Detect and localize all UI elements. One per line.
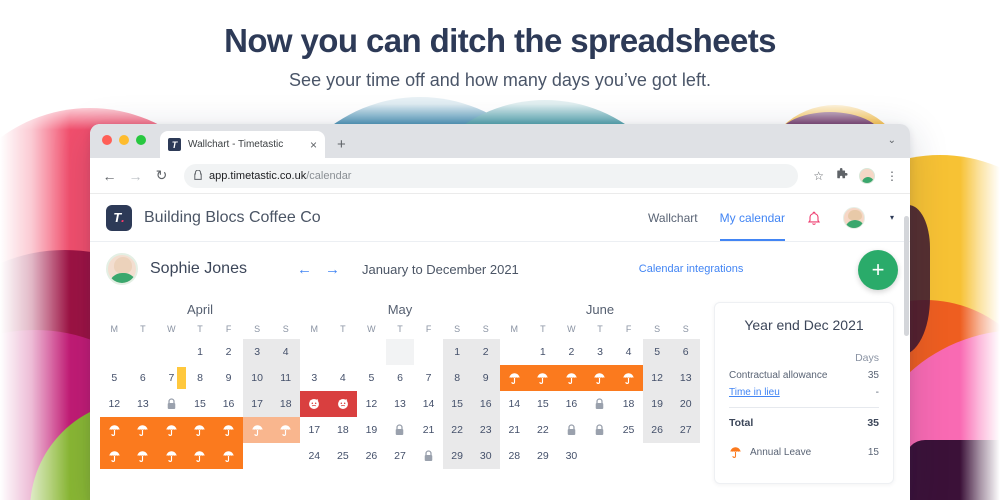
calendar-day-cell[interactable]: 18	[329, 417, 358, 443]
total-label: Total	[729, 417, 753, 429]
calendar-day-cell[interactable]: 23	[471, 417, 500, 443]
calendar-day-cell[interactable]: 5	[100, 365, 129, 391]
half-day-marker	[177, 367, 186, 389]
lock-icon	[194, 170, 202, 182]
prev-period-button[interactable]: ←	[297, 261, 312, 278]
user-avatar[interactable]	[843, 207, 865, 229]
chevron-down-icon[interactable]: ▾	[890, 213, 894, 222]
calendar-day-cell[interactable]: 18	[614, 391, 643, 417]
calendar-day-cell[interactable]: 19	[357, 417, 386, 443]
summary-row-total: Total 35	[729, 414, 879, 432]
calendar-day-cell[interactable]	[186, 443, 215, 469]
month-april: AprilMTWTFSS1234567891011121315161718	[100, 302, 300, 484]
calendar-day-cell[interactable]: 22	[529, 417, 558, 443]
star-icon[interactable]: ☆	[813, 169, 824, 183]
calendar-day-cell[interactable]: 27	[671, 417, 700, 443]
promo-subheadline: See your time off and how many days you’…	[0, 70, 1000, 91]
calendar-empty-cell	[357, 339, 386, 365]
month-may: MayMTWTFSS123456789121314151617181921222…	[300, 302, 500, 484]
browser-window: T Wallchart - Timetastic × + ⌄ ← → ↻ app…	[90, 124, 910, 500]
nav-item-wallchart[interactable]: Wallchart	[648, 194, 698, 241]
calendar-day-cell[interactable]: 26	[643, 417, 672, 443]
url-path: /calendar	[306, 170, 351, 182]
calendar-day-cell[interactable]: 30	[557, 443, 586, 469]
calendar-day-cell[interactable]	[243, 417, 272, 443]
summary-title: Year end Dec 2021	[729, 317, 879, 333]
maximize-window-icon[interactable]	[136, 135, 146, 145]
calendar-day-cell[interactable]: 1	[186, 339, 215, 365]
calendar-day-cell[interactable]	[300, 391, 329, 417]
calendar-day-cell[interactable]: 24	[300, 443, 329, 469]
calendar-day-cell[interactable]: 1	[443, 339, 472, 365]
calendar-day-cell[interactable]	[157, 391, 186, 417]
calendar-day-cell[interactable]: 6	[386, 365, 415, 391]
calendar-day-cell[interactable]: 25	[329, 443, 358, 469]
calendar-area: AprilMTWTFSS1234567891011121315161718May…	[90, 296, 910, 484]
add-booking-button[interactable]: +	[858, 250, 898, 290]
day-of-week-header: F	[414, 324, 443, 339]
day-of-week-header: M	[300, 324, 329, 339]
day-of-week-header: S	[471, 324, 500, 339]
browser-profile-avatar[interactable]	[859, 168, 875, 184]
calendar-day-cell[interactable]: 2	[557, 339, 586, 365]
address-bar[interactable]: app.timetastic.co.uk/calendar	[184, 164, 798, 188]
browser-menu-icon[interactable]: ⋮	[886, 169, 898, 183]
calendar-day-cell[interactable]: 16	[214, 391, 243, 417]
calendar-day-cell[interactable]: 5	[357, 365, 386, 391]
tab-title: Wallchart - Timetastic	[188, 139, 303, 150]
calendar-day-cell[interactable]: 14	[500, 391, 529, 417]
calendar-day-cell[interactable]: 17	[300, 417, 329, 443]
calendar-day-cell[interactable]: 15	[186, 391, 215, 417]
allowance-summary-card: Year end Dec 2021 Days Contractual allow…	[714, 302, 894, 484]
day-of-week-header: W	[557, 324, 586, 339]
promo-headline: Now you can ditch the spreadsheets	[0, 22, 1000, 60]
vertical-scrollbar[interactable]	[904, 216, 909, 336]
calendar-day-cell[interactable]: 29	[529, 443, 558, 469]
calendar-day-cell[interactable]	[186, 417, 215, 443]
calendar-day-cell[interactable]: 29	[443, 443, 472, 469]
calendar-day-cell[interactable]: 2	[471, 339, 500, 365]
calendar-day-cell[interactable]	[386, 417, 415, 443]
calendar-empty-cell	[500, 339, 529, 365]
tab-close-icon[interactable]: ×	[310, 138, 317, 152]
day-of-week-header: S	[643, 324, 672, 339]
day-of-week-header: M	[500, 324, 529, 339]
calendar-day-cell[interactable]: 11	[271, 365, 300, 391]
calendar-day-cell[interactable]: 4	[614, 339, 643, 365]
calendar-day-cell[interactable]	[129, 443, 158, 469]
day-of-week-header: W	[357, 324, 386, 339]
calendar-day-cell[interactable]: 12	[100, 391, 129, 417]
months-container: AprilMTWTFSS1234567891011121315161718May…	[100, 302, 700, 484]
calendar-day-cell[interactable]	[529, 365, 558, 391]
calendar-day-cell[interactable]: 16	[471, 391, 500, 417]
notifications-bell-icon[interactable]	[807, 211, 821, 225]
day-of-week-header: T	[386, 324, 415, 339]
calendar-day-cell[interactable]: 16	[557, 391, 586, 417]
day-of-week-header: T	[129, 324, 158, 339]
annual-leave-label-group: Annual Leave	[729, 446, 811, 459]
day-of-week-header: W	[157, 324, 186, 339]
calendar-day-cell[interactable]	[271, 417, 300, 443]
day-of-week-header: S	[243, 324, 272, 339]
calendar-integrations-link[interactable]: Calendar integrations	[639, 263, 744, 275]
calendar-day-cell[interactable]	[214, 417, 243, 443]
day-of-week-header: F	[614, 324, 643, 339]
calendar-empty-cell	[614, 443, 643, 469]
calendar-day-cell[interactable]: 22	[443, 417, 472, 443]
calendar-empty-cell	[243, 443, 272, 469]
summary-row-time-in-lieu[interactable]: Time in lieu -	[729, 384, 879, 401]
calendar-day-cell[interactable]	[557, 417, 586, 443]
calendar-day-cell[interactable]: 14	[414, 391, 443, 417]
forward-icon[interactable]: →	[128, 168, 143, 184]
summary-header-row: Days	[729, 349, 879, 367]
calendar-day-cell[interactable]: 5	[643, 339, 672, 365]
calendar-day-cell[interactable]: 8	[443, 365, 472, 391]
month-grid: MTWTFSS1234567891011121315161718	[100, 324, 300, 469]
app-nav: Wallchart My calendar ▾	[648, 194, 894, 241]
calendar-day-cell[interactable]: 13	[129, 391, 158, 417]
calendar-day-cell[interactable]: 15	[443, 391, 472, 417]
calendar-day-cell[interactable]: 13	[671, 365, 700, 391]
days-column-header: Days	[855, 352, 879, 364]
calendar-day-cell[interactable]: 6	[671, 339, 700, 365]
calendar-day-cell[interactable]: 18	[271, 391, 300, 417]
calendar-day-cell[interactable]	[614, 365, 643, 391]
month-title: June	[500, 302, 700, 317]
day-of-week-header: T	[329, 324, 358, 339]
avatar	[106, 253, 138, 285]
calendar-day-cell[interactable]	[100, 417, 129, 443]
calendar-empty-cell	[643, 443, 672, 469]
calendar-day-cell[interactable]	[500, 365, 529, 391]
timetastic-logo-icon: T	[106, 205, 132, 231]
promo-screenshot: Now you can ditch the spreadsheets See y…	[0, 0, 1000, 500]
calendar-day-cell[interactable]: 20	[671, 391, 700, 417]
calendar-day-cell[interactable]: 15	[529, 391, 558, 417]
calendar-day-cell[interactable]	[586, 365, 615, 391]
calendar-day-cell[interactable]: 30	[471, 443, 500, 469]
calendar-day-cell[interactable]: 28	[500, 443, 529, 469]
timetastic-app: T Building Blocs Coffee Co Wallchart My …	[90, 194, 910, 500]
url-host: app.timetastic.co.uk	[209, 170, 306, 182]
calendar-empty-cell	[300, 339, 329, 365]
summary-row-value: -	[876, 387, 879, 398]
month-title: April	[100, 302, 300, 317]
extensions-icon[interactable]	[835, 168, 848, 184]
day-of-week-header: M	[100, 324, 129, 339]
annual-leave-label: Annual Leave	[750, 447, 811, 458]
minimize-window-icon[interactable]	[119, 135, 129, 145]
calendar-empty-cell	[414, 339, 443, 365]
calendar-subheader: Sophie Jones ← → January to December 202…	[90, 242, 910, 296]
close-window-icon[interactable]	[102, 135, 112, 145]
new-tab-icon[interactable]: +	[337, 136, 346, 153]
back-icon[interactable]: ←	[102, 168, 117, 184]
calendar-day-cell[interactable]: 9	[471, 365, 500, 391]
calendar-day-cell[interactable]: 25	[614, 417, 643, 443]
summary-row-value: 35	[868, 370, 879, 381]
calendar-empty-cell	[100, 339, 129, 365]
calendar-day-cell[interactable]: 7	[157, 365, 186, 391]
calendar-day-cell[interactable]	[100, 443, 129, 469]
calendar-empty-cell	[271, 443, 300, 469]
calendar-day-cell[interactable]: 4	[329, 365, 358, 391]
calendar-day-cell[interactable]: 27	[386, 443, 415, 469]
calendar-empty-cell	[329, 339, 358, 365]
period-nav: ← →	[297, 261, 340, 278]
calendar-day-cell[interactable]	[414, 443, 443, 469]
calendar-day-cell[interactable]: 26	[357, 443, 386, 469]
nav-item-my-calendar[interactable]: My calendar	[720, 194, 785, 241]
address-bar-url: app.timetastic.co.uk/calendar	[209, 170, 351, 182]
calendar-day-cell[interactable]: 12	[357, 391, 386, 417]
calendar-day-cell[interactable]: 2	[214, 339, 243, 365]
calendar-day-cell[interactable]: 19	[643, 391, 672, 417]
next-period-button[interactable]: →	[325, 261, 340, 278]
calendar-day-cell[interactable]: 4	[271, 339, 300, 365]
total-value: 35	[867, 417, 879, 429]
calendar-day-cell[interactable]: 7	[414, 365, 443, 391]
reload-icon[interactable]: ↻	[154, 167, 169, 184]
calendar-day-cell[interactable]	[329, 391, 358, 417]
calendar-day-cell[interactable]: 3	[586, 339, 615, 365]
app-header: T Building Blocs Coffee Co Wallchart My …	[90, 194, 910, 242]
month-grid: MTWTFSS123456121314151618192021222526272…	[500, 324, 700, 469]
calendar-day-cell[interactable]	[214, 443, 243, 469]
window-controls[interactable]	[102, 135, 146, 145]
calendar-day-cell[interactable]: 17	[243, 391, 272, 417]
calendar-day-cell[interactable]	[586, 391, 615, 417]
day-of-week-header: F	[214, 324, 243, 339]
chevron-down-icon[interactable]: ⌄	[888, 135, 896, 146]
calendar-day-cell[interactable]: 1	[529, 339, 558, 365]
calendar-day-cell[interactable]: 3	[300, 365, 329, 391]
calendar-day-cell[interactable]: 13	[386, 391, 415, 417]
calendar-day-cell[interactable]	[557, 365, 586, 391]
annual-leave-value: 15	[868, 447, 879, 458]
calendar-day-cell[interactable]	[129, 417, 158, 443]
summary-row-contractual-allowance: Contractual allowance 35	[729, 367, 879, 384]
divider	[729, 407, 879, 408]
day-of-week-header: T	[529, 324, 558, 339]
calendar-empty-cell	[586, 443, 615, 469]
summary-row-label[interactable]: Time in lieu	[729, 387, 780, 398]
organisation-name: Building Blocs Coffee Co	[144, 209, 321, 227]
promo-text-block: Now you can ditch the spreadsheets See y…	[0, 22, 1000, 91]
umbrella-icon	[729, 446, 742, 459]
day-of-week-header: T	[186, 324, 215, 339]
calendar-empty-cell	[157, 339, 186, 365]
date-range-label: January to December 2021	[362, 262, 519, 277]
calendar-empty-cell	[386, 339, 415, 365]
calendar-empty-cell	[671, 443, 700, 469]
calendar-day-cell[interactable]	[586, 417, 615, 443]
calendar-day-cell[interactable]: 12	[643, 365, 672, 391]
calendar-day-cell[interactable]: 21	[414, 417, 443, 443]
tab-favicon-icon: T	[168, 138, 181, 151]
month-grid: MTWTFSS123456789121314151617181921222324…	[300, 324, 500, 469]
browser-toolbar: ← → ↻ app.timetastic.co.uk/calendar ☆ ⋮	[90, 158, 910, 194]
calendar-day-cell[interactable]: 8	[186, 365, 215, 391]
calendar-empty-cell	[129, 339, 158, 365]
day-of-week-header: T	[586, 324, 615, 339]
calendar-day-cell[interactable]: 10	[243, 365, 272, 391]
calendar-day-cell[interactable]: 6	[129, 365, 158, 391]
summary-row-annual-leave: Annual Leave 15	[729, 443, 879, 462]
month-title: May	[300, 302, 500, 317]
summary-row-label: Contractual allowance	[729, 370, 827, 381]
calendar-day-cell[interactable]	[157, 443, 186, 469]
browser-tab-bar: T Wallchart - Timetastic × + ⌄	[90, 124, 910, 158]
day-of-week-header: S	[443, 324, 472, 339]
calendar-day-cell[interactable]: 21	[500, 417, 529, 443]
calendar-day-cell[interactable]: 3	[243, 339, 272, 365]
browser-tab[interactable]: T Wallchart - Timetastic ×	[160, 131, 325, 158]
month-june: JuneMTWTFSS12345612131415161819202122252…	[500, 302, 700, 484]
calendar-day-cell[interactable]	[157, 417, 186, 443]
day-of-week-header: S	[671, 324, 700, 339]
profile-name: Sophie Jones	[150, 260, 247, 278]
day-of-week-header: S	[271, 324, 300, 339]
calendar-day-cell[interactable]: 9	[214, 365, 243, 391]
